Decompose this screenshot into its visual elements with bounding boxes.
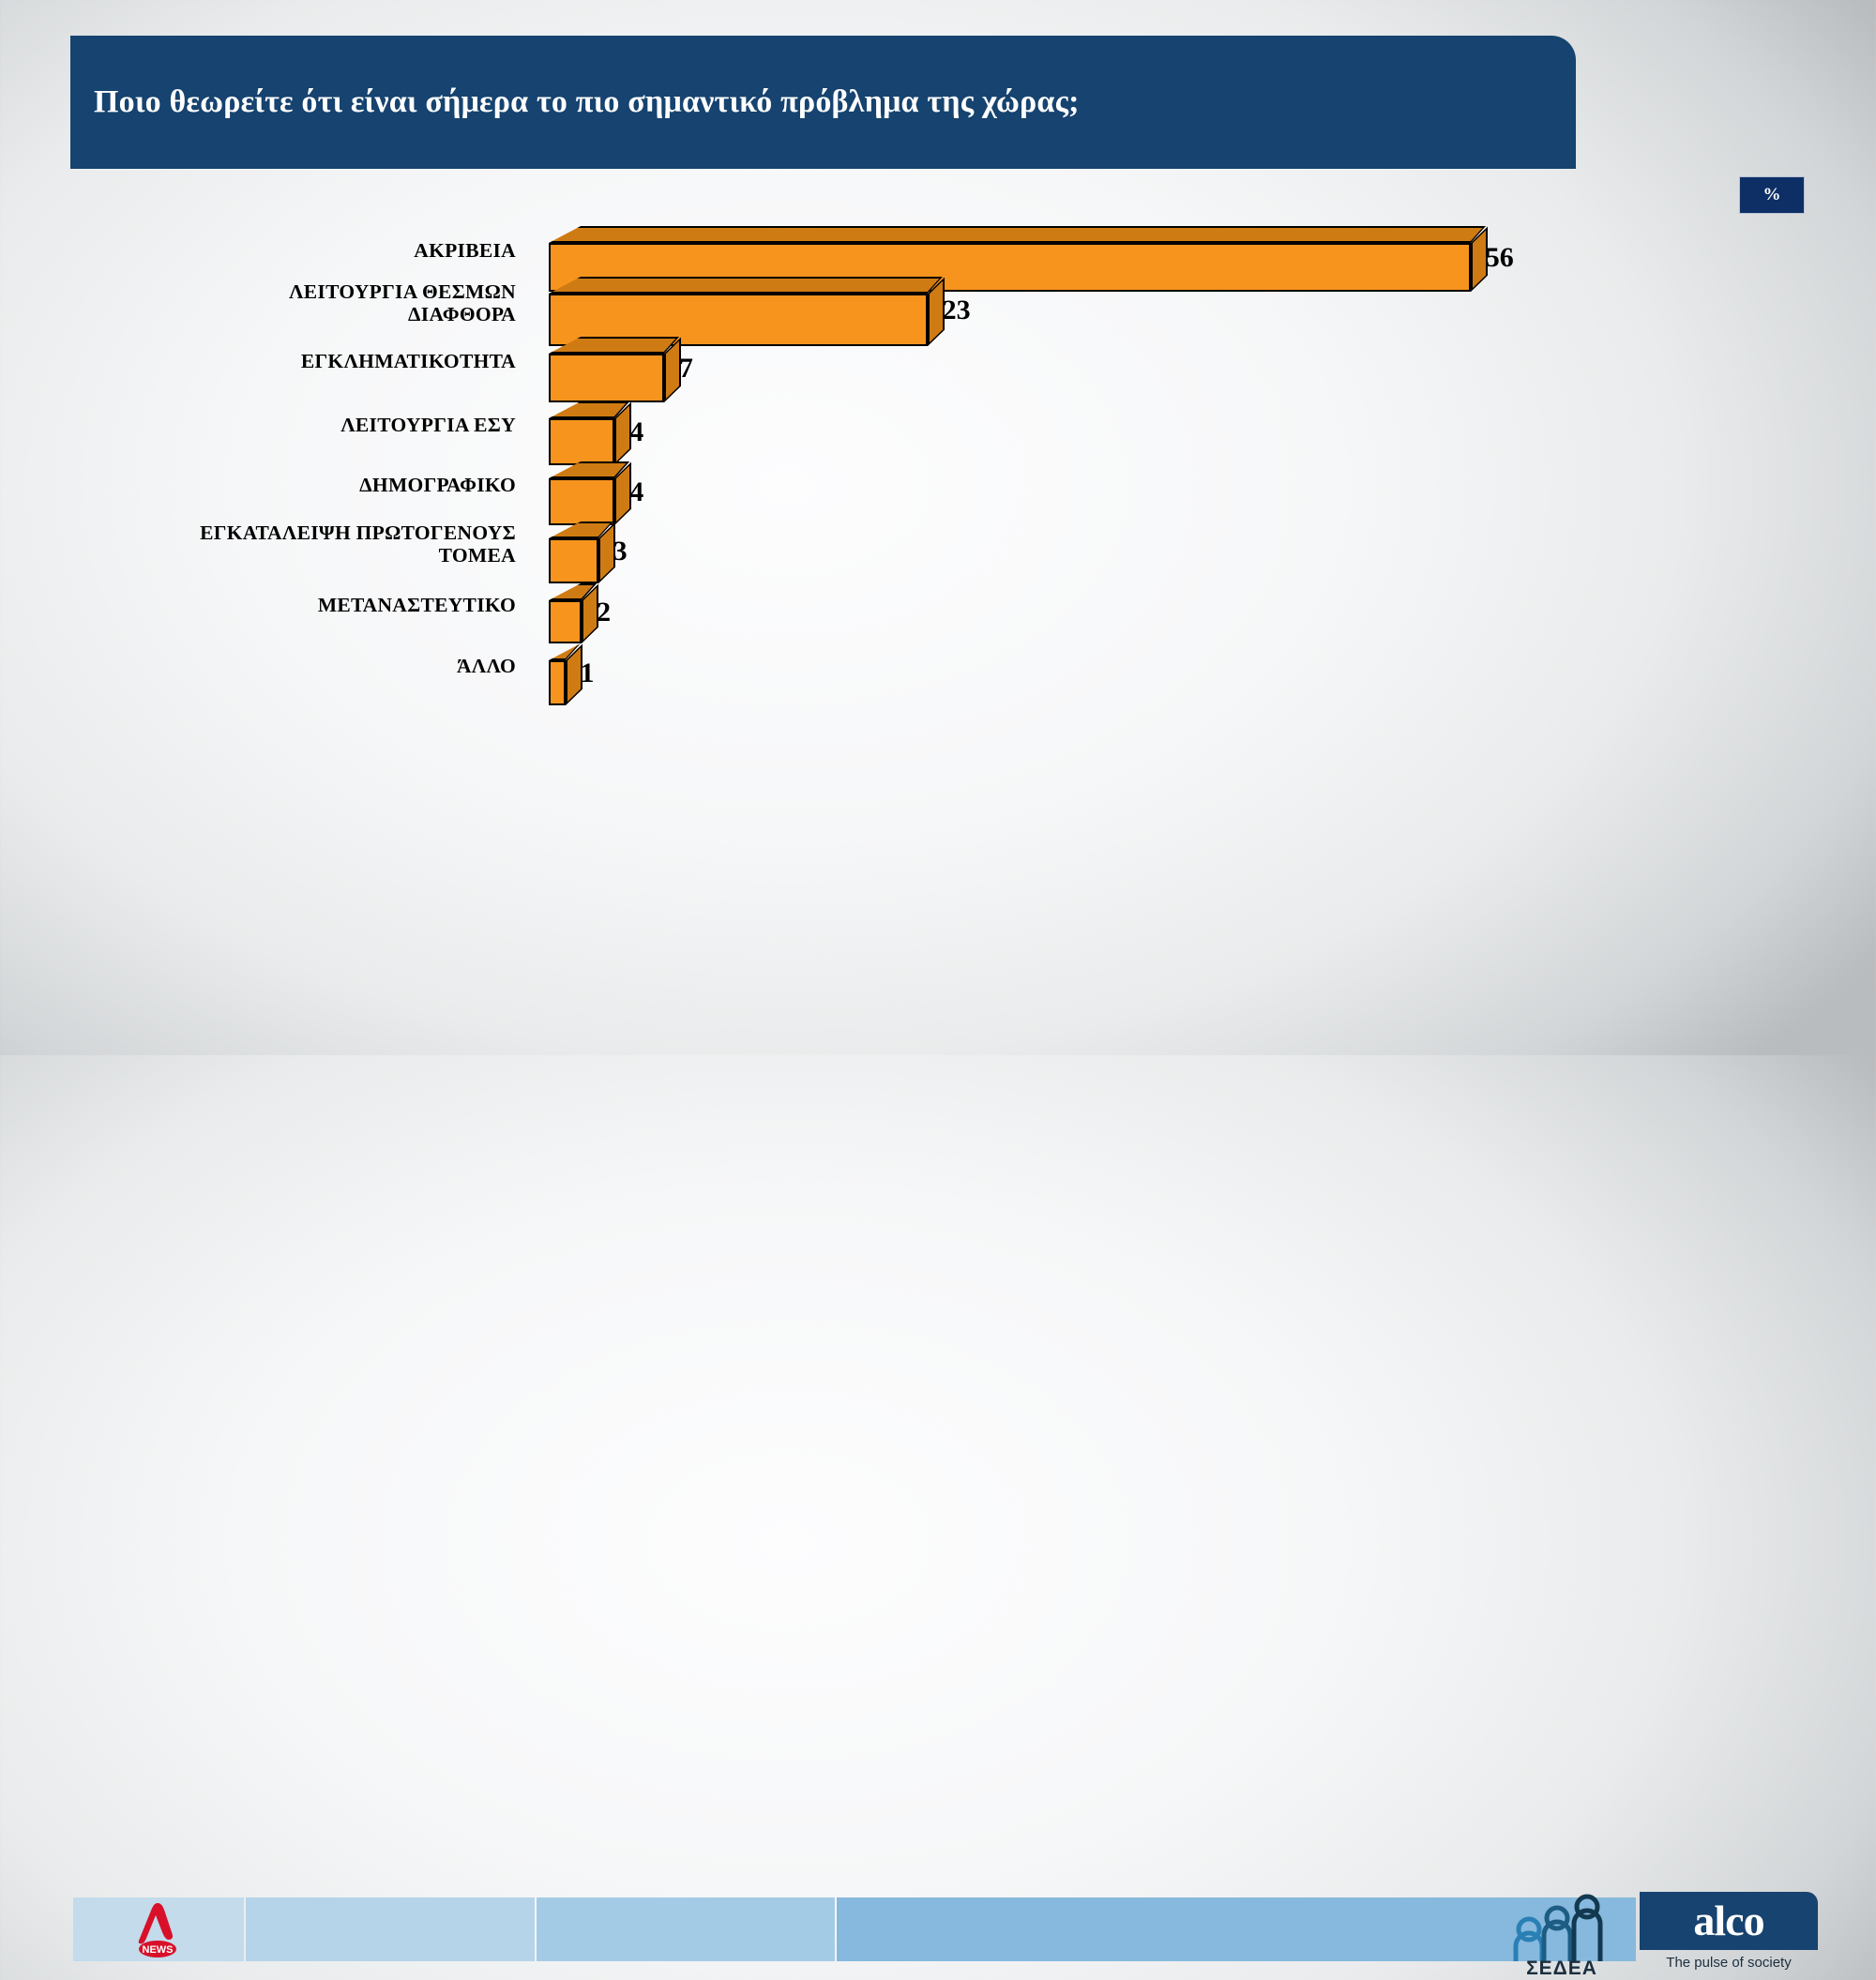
bar-category-label-line: ΕΓΚΛΗΜΑΤΙΚΟΤΗΤΑ — [84, 350, 516, 372]
bar-value-label: 4 — [629, 476, 643, 508]
bar-3d — [549, 337, 681, 402]
unit-badge-label: % — [1763, 185, 1781, 205]
bar-front-face — [549, 660, 566, 705]
bar-category-label: ΛΕΙΤΟΥΡΓΙΑ ΕΣΥ — [84, 414, 516, 436]
bar-category-label-line: ΆΛΛΟ — [84, 655, 516, 677]
bar-category-label-line: ΛΕΙΤΟΥΡΓΙΑ ΕΣΥ — [84, 414, 516, 436]
bar-top-face — [549, 277, 943, 294]
bar-category-label-line: ΔΗΜΟΓΡΑΦΙΚΟ — [84, 474, 516, 496]
alpha-news-logo-icon: NEWS — [127, 1901, 192, 1959]
bar-3d — [549, 277, 945, 346]
bar-value-label: 2 — [597, 597, 611, 628]
bar-category-label-line: ΔΙΑΦΘΟΡΑ — [84, 303, 516, 325]
alco-logo-label: alco — [1693, 1899, 1763, 1942]
alco-tagline: The pulse of society — [1640, 1955, 1818, 1971]
bar-3d — [549, 643, 582, 705]
bar-category-label: ΕΓΚΛΗΜΑΤΙΚΟΤΗΤΑ — [84, 350, 516, 372]
bar-value-label: 7 — [679, 353, 693, 385]
bar-category-label: ΑΚΡΙΒΕΙΑ — [84, 239, 516, 262]
bar-category-label: ΜΕΤΑΝΑΣΤΕΥΤΙΚΟ — [84, 594, 516, 616]
bar-top-face — [549, 337, 679, 354]
bar-top-face — [549, 226, 1486, 243]
bar-chart: ΑΚΡΙΒΕΙΑ56ΛΕΙΤΟΥΡΓΙΑ ΘΕΣΜΩΝΔΙΑΦΘΟΡΑ23ΕΓΚ… — [0, 239, 1876, 896]
bar-3d — [549, 401, 631, 465]
bar-front-face — [549, 478, 614, 525]
bar-front-face — [549, 600, 582, 643]
bar-3d — [549, 461, 631, 525]
bar-value-label: 1 — [581, 657, 595, 689]
alpha-news-logo-text: NEWS — [143, 1944, 174, 1956]
bar-category-label-line: ΜΕΤΑΝΑΣΤΕΥΤΙΚΟ — [84, 594, 516, 616]
bar-front-face — [549, 354, 664, 402]
bar-category-label-line: ΛΕΙΤΟΥΡΓΙΑ ΘΕΣΜΩΝ — [84, 280, 516, 303]
bar-front-face — [549, 538, 598, 583]
bar-category-label: ΔΗΜΟΓΡΑΦΙΚΟ — [84, 474, 516, 496]
bar-value-label: 4 — [629, 416, 643, 448]
bar-value-label: 3 — [613, 536, 628, 567]
bar-category-label: ΆΛΛΟ — [84, 655, 516, 677]
bar-3d — [549, 583, 598, 643]
alco-logo: alco — [1640, 1892, 1818, 1950]
sedea-logo-label: ΣΕΔΕΑ — [1501, 1957, 1623, 1980]
bar-category-label-line: ΤΟΜΕΑ — [84, 544, 516, 567]
page-title: Ποιο θεωρείτε ότι είναι σήμερα το πιο ση… — [70, 84, 1080, 119]
slide-root: Ποιο θεωρείτε ότι είναι σήμερα το πιο ση… — [0, 0, 1876, 1055]
bar-category-label-line: ΕΓΚΑΤΑΛΕΙΨΗ ΠΡΩΤΟΓΕΝΟΥΣ — [84, 521, 516, 544]
unit-badge: % — [1739, 176, 1805, 214]
bar-front-face — [549, 418, 614, 465]
bar-3d — [549, 521, 615, 583]
footer-segment-2 — [246, 1897, 535, 1961]
bar-category-label: ΛΕΙΤΟΥΡΓΙΑ ΘΕΣΜΩΝΔΙΑΦΘΟΡΑ — [84, 280, 516, 325]
slide-header: Ποιο θεωρείτε ότι είναι σήμερα το πιο ση… — [70, 36, 1576, 169]
bar-value-label: 23 — [943, 295, 971, 326]
slide-footer: NEWS ΣΕΔΕΑ alco The pulse of society — [0, 943, 1876, 1055]
bar-value-label: 56 — [1486, 242, 1514, 274]
bar-category-label-line: ΑΚΡΙΒΕΙΑ — [84, 239, 516, 262]
bar-category-label: ΕΓΚΑΤΑΛΕΙΨΗ ΠΡΩΤΟΓΕΝΟΥΣΤΟΜΕΑ — [84, 521, 516, 567]
footer-segment-3 — [537, 1897, 835, 1961]
